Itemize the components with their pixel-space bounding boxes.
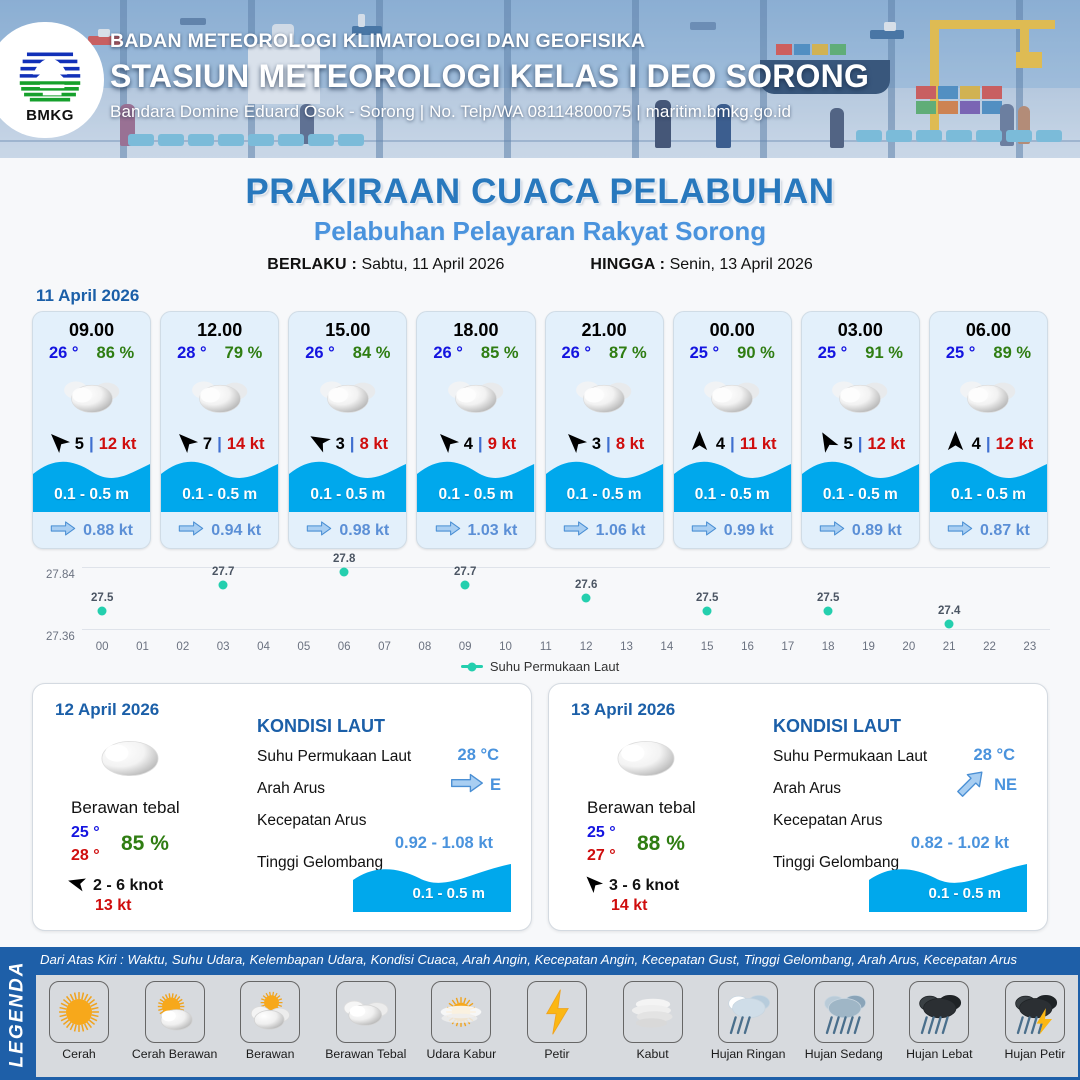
sst-label: Suhu Permukaan Laut — [257, 748, 411, 766]
validity-row: BERLAKU : Sabtu, 11 April 2026 HINGGA : … — [0, 256, 1080, 274]
lightning-icon — [527, 981, 587, 1043]
card-humidity: 91 % — [865, 344, 903, 363]
panel-wave-height: 0.1 - 0.5 m — [412, 885, 485, 902]
current-direction-arrow-icon — [819, 520, 845, 542]
legend-side-text: LEGENDA — [6, 960, 28, 1067]
separator: | — [478, 434, 483, 454]
card-wave-height: 0.1 - 0.5 m — [546, 486, 663, 504]
separator: | — [858, 434, 863, 454]
chart-x-tick: 18 — [822, 641, 835, 653]
chart-x-tick: 23 — [1023, 641, 1036, 653]
separator: | — [350, 434, 355, 454]
card-time: 09.00 — [33, 312, 150, 341]
panel-temp-min: 25 ° — [71, 824, 100, 842]
separator: | — [606, 434, 611, 454]
card-time: 03.00 — [802, 312, 919, 341]
chart-gridline — [82, 629, 1050, 630]
cloud-icon — [336, 981, 396, 1043]
chart-x-tick: 17 — [781, 641, 794, 653]
cloud-icon — [33, 365, 150, 427]
chart-x-tick: 08 — [418, 641, 431, 653]
panel-date: 12 April 2026 — [55, 700, 159, 720]
card-gust: 12 kt — [99, 435, 137, 454]
hingga-value: Senin, 13 April 2026 — [670, 256, 813, 273]
legend-item-label: Berawan Tebal — [325, 1047, 406, 1061]
current-direction-label: Arah Arus — [257, 780, 325, 798]
legend-item-label: Cerah Berawan — [132, 1047, 217, 1061]
berlaku-group: BERLAKU : Sabtu, 11 April 2026 — [267, 256, 504, 274]
card-wind-speed: 4 — [972, 435, 981, 454]
current-speed-value: 0.92 - 1.08 kt — [395, 834, 493, 853]
hourly-card: 15.00 26 ° 84 % 3 | 8 kt 0.1 - 0.5 m — [288, 311, 407, 549]
cloud-icon — [546, 365, 663, 427]
legend-side-title: LEGENDA — [0, 947, 34, 1080]
panel-temp-min: 25 ° — [587, 824, 616, 842]
card-gust: 8 kt — [360, 435, 388, 454]
sun-icon — [49, 981, 109, 1043]
chart-x-tick: 19 — [862, 641, 875, 653]
panel-temp-max: 27 ° — [587, 847, 616, 865]
wind-direction-arrow-icon — [583, 873, 603, 898]
chart-x-tick: 07 — [378, 641, 391, 653]
separator: | — [986, 434, 991, 454]
cloud-icon — [674, 365, 791, 427]
current-direction-value: NE — [994, 776, 1017, 795]
card-time: 06.00 — [930, 312, 1047, 341]
moderate-rain-icon — [814, 981, 874, 1043]
panel-humidity: 85 % — [121, 832, 169, 856]
legend-item: Kabut — [614, 981, 692, 1061]
hourly-card: 21.00 26 ° 87 % 3 | 8 kt 0.1 - 0.5 m — [545, 311, 664, 549]
wind-direction-arrow-icon — [944, 430, 967, 458]
berlaku-value: Sabtu, 11 April 2026 — [361, 256, 504, 273]
legend-item: Petir — [518, 981, 596, 1061]
legend-item-label: Hujan Petir — [1005, 1047, 1066, 1061]
card-wave-height: 0.1 - 0.5 m — [802, 486, 919, 504]
daily-panel: 12 April 2026 Berawan tebal 25 ° 28 ° 85… — [32, 683, 532, 931]
legend-items: Cerah Cerah Berawan Berawan Berawan Teba… — [36, 975, 1078, 1077]
chart-x-tick: 12 — [580, 641, 593, 653]
legend-item: Cerah — [40, 981, 118, 1061]
chart-point-label: 27.5 — [817, 592, 839, 604]
card-wind-speed: 5 — [844, 435, 853, 454]
chart-x-tick: 13 — [620, 641, 633, 653]
hourly-card: 03.00 25 ° 91 % 5 | 12 kt 0.1 - 0.5 m — [801, 311, 920, 549]
wind-direction-arrow-icon — [436, 430, 459, 458]
hourly-card: 06.00 25 ° 89 % 4 | 12 kt 0.1 - 0.5 m — [929, 311, 1048, 549]
current-direction-arrow-icon — [435, 520, 461, 542]
card-temperature: 26 ° — [305, 344, 335, 363]
card-current-speed: 0.99 kt — [724, 522, 774, 540]
card-wind-speed: 5 — [75, 435, 84, 454]
chart-data-point — [703, 606, 712, 615]
hourly-card: 09.00 26 ° 86 % 5 | 12 kt 0.1 - 0.5 m — [32, 311, 151, 549]
current-direction-arrow-icon — [306, 520, 332, 542]
chart-x-tick: 10 — [499, 641, 512, 653]
card-current-speed: 0.89 kt — [852, 522, 902, 540]
chart-x-tick: 20 — [902, 641, 915, 653]
separator: | — [730, 434, 735, 454]
current-direction-arrow-icon — [947, 520, 973, 542]
panel-humidity: 88 % — [637, 832, 685, 856]
legend-item-label: Udara Kabur — [427, 1047, 497, 1061]
card-temperature: 25 ° — [690, 344, 720, 363]
current-direction-arrow-icon — [50, 520, 76, 542]
sst-value: 28 °C — [974, 746, 1015, 765]
chart-legend-marker — [461, 665, 483, 668]
card-current-speed: 1.03 kt — [468, 522, 518, 540]
chart-point-label: 27.5 — [696, 592, 718, 604]
card-temperature: 25 ° — [946, 344, 976, 363]
agency-name: BADAN METEOROLOGI KLIMATOLOGI DAN GEOFIS… — [110, 30, 869, 53]
legend-item: Hujan Ringan — [709, 981, 787, 1061]
card-current-speed: 0.98 kt — [339, 522, 389, 540]
heavy-rain-icon — [909, 981, 969, 1043]
panel-condition: Berawan tebal — [587, 798, 696, 818]
chart-y-tick: 27.36 — [46, 631, 75, 643]
current-direction-arrow-icon — [954, 772, 988, 799]
legend-item: Cerah Berawan — [136, 981, 214, 1061]
chart-legend-label: Suhu Permukaan Laut — [490, 659, 619, 674]
chart-data-point — [582, 594, 591, 603]
current-direction-group: E — [450, 772, 501, 799]
chart-x-tick: 15 — [701, 641, 714, 653]
chart-x-tick: 02 — [176, 641, 189, 653]
sea-condition-title: KONDISI LAUT — [773, 716, 901, 737]
station-contact: Bandara Domine Eduard Osok - Sorong | No… — [110, 102, 869, 122]
wind-direction-arrow-icon — [816, 430, 839, 458]
cloud-icon — [607, 732, 685, 787]
card-time: 12.00 — [161, 312, 278, 341]
cloud-icon — [161, 365, 278, 427]
card-wave-height: 0.1 - 0.5 m — [930, 486, 1047, 504]
chart-data-point — [945, 619, 954, 628]
chart-y-tick: 27.84 — [46, 569, 75, 581]
card-time: 15.00 — [289, 312, 406, 341]
daily-panels: 12 April 2026 Berawan tebal 25 ° 28 ° 85… — [0, 683, 1080, 931]
chart-x-tick: 03 — [217, 641, 230, 653]
card-temperature: 28 ° — [177, 344, 207, 363]
panel-wind-range: 2 - 6 knot — [93, 877, 163, 895]
hourly-cards: 09.00 26 ° 86 % 5 | 12 kt 0.1 - 0.5 m — [0, 311, 1080, 549]
legend-item-label: Hujan Sedang — [805, 1047, 883, 1061]
chart-data-point — [340, 568, 349, 577]
chart-x-tick: 09 — [459, 641, 472, 653]
card-wind-speed: 7 — [203, 435, 212, 454]
thunderstorm-icon — [1005, 981, 1065, 1043]
chart-x-tick: 06 — [338, 641, 351, 653]
card-humidity: 90 % — [737, 344, 775, 363]
panel-gust: 13 kt — [95, 897, 131, 915]
chart-x-tick: 22 — [983, 641, 996, 653]
chart-point-label: 27.4 — [938, 605, 960, 617]
chart-data-point — [824, 606, 833, 615]
card-humidity: 86 % — [97, 344, 135, 363]
page-subtitle: Pelabuhan Pelayaran Rakyat Sorong — [0, 216, 1080, 247]
panel-date: 13 April 2026 — [571, 700, 675, 720]
legend-item-label: Petir — [544, 1047, 569, 1061]
hourly-card: 00.00 25 ° 90 % 4 | 11 kt 0.1 - 0.5 m — [673, 311, 792, 549]
chart-x-tick: 04 — [257, 641, 270, 653]
panel-wind-range: 3 - 6 knot — [609, 877, 679, 895]
card-humidity: 85 % — [481, 344, 519, 363]
sun-cloud-icon — [145, 981, 205, 1043]
cloud-icon — [802, 365, 919, 427]
current-direction-group: NE — [954, 772, 1017, 799]
bmkg-logo-text: BMKG — [26, 107, 74, 124]
card-wave-height: 0.1 - 0.5 m — [417, 486, 534, 504]
chart-x-tick: 14 — [660, 641, 673, 653]
current-direction-arrow-icon — [450, 772, 484, 799]
current-direction-arrow-icon — [563, 520, 589, 542]
chart-data-point — [461, 581, 470, 590]
card-time: 21.00 — [546, 312, 663, 341]
current-speed-value: 0.82 - 1.02 kt — [911, 834, 1009, 853]
wind-direction-arrow-icon — [47, 430, 70, 458]
legend-item: Berawan Tebal — [327, 981, 405, 1061]
legend-bar: LEGENDA Dari Atas Kiri : Waktu, Suhu Uda… — [0, 947, 1080, 1080]
sst-value: 28 °C — [458, 746, 499, 765]
chart-point-label: 27.7 — [212, 566, 234, 578]
card-humidity: 84 % — [353, 344, 391, 363]
hourly-card: 12.00 28 ° 79 % 7 | 14 kt 0.1 - 0.5 m — [160, 311, 279, 549]
wind-direction-arrow-icon — [67, 873, 87, 898]
card-gust: 8 kt — [616, 435, 644, 454]
card-temperature: 26 ° — [49, 344, 79, 363]
wind-direction-arrow-icon — [564, 430, 587, 458]
card-gust: 14 kt — [227, 435, 265, 454]
chart-x-tick: 05 — [297, 641, 310, 653]
chart-point-label: 27.7 — [454, 566, 476, 578]
chart-x-tick: 11 — [540, 641, 552, 653]
legend-item: Udara Kabur — [422, 981, 500, 1061]
card-humidity: 87 % — [609, 344, 647, 363]
chart-data-point — [98, 606, 107, 615]
card-current-speed: 0.94 kt — [211, 522, 261, 540]
card-wave-height: 0.1 - 0.5 m — [33, 486, 150, 504]
panel-temp-max: 28 ° — [71, 847, 100, 865]
haze-icon — [431, 981, 491, 1043]
card-gust: 12 kt — [867, 435, 905, 454]
legend-item: Hujan Lebat — [900, 981, 978, 1061]
card-humidity: 79 % — [225, 344, 263, 363]
hingga-label: HINGGA : — [590, 256, 665, 273]
current-direction-arrow-icon — [691, 520, 717, 542]
card-wind-speed: 3 — [336, 435, 345, 454]
legend-note: Dari Atas Kiri : Waktu, Suhu Udara, Kele… — [40, 952, 1076, 967]
fog-icon — [623, 981, 683, 1043]
card-wave-height: 0.1 - 0.5 m — [289, 486, 406, 504]
card-wind-speed: 3 — [592, 435, 601, 454]
cloud-icon — [91, 732, 169, 787]
panel-wave-height: 0.1 - 0.5 m — [928, 885, 1001, 902]
current-speed-label: Kecepatan Arus — [773, 812, 882, 830]
card-wind-speed: 4 — [716, 435, 725, 454]
chart-x-tick: 00 — [96, 641, 109, 653]
legend-item-label: Cerah — [62, 1047, 96, 1061]
current-direction-value: E — [490, 776, 501, 795]
hingga-group: HINGGA : Senin, 13 April 2026 — [590, 256, 812, 274]
card-current-speed: 0.87 kt — [980, 522, 1030, 540]
card-current-speed: 1.06 kt — [596, 522, 646, 540]
card-temperature: 25 ° — [818, 344, 848, 363]
legend-item-label: Hujan Lebat — [906, 1047, 972, 1061]
chart-point-label: 27.8 — [333, 553, 355, 565]
panel-gust: 14 kt — [611, 897, 647, 915]
page-title: PRAKIRAAN CUACA PELABUHAN — [0, 172, 1080, 212]
title-block: PRAKIRAAN CUACA PELABUHAN Pelabuhan Pela… — [0, 172, 1080, 274]
separator: | — [217, 434, 222, 454]
wind-direction-arrow-icon — [688, 430, 711, 458]
cloud-icon — [289, 365, 406, 427]
legend-item-label: Berawan — [246, 1047, 295, 1061]
chart-point-label: 27.6 — [575, 579, 597, 591]
wind-direction-arrow-icon — [175, 430, 198, 458]
chart-data-point — [219, 581, 228, 590]
card-humidity: 89 % — [993, 344, 1031, 363]
separator: | — [89, 434, 94, 454]
station-name: STASIUN METEOROLOGI KELAS I DEO SORONG — [110, 58, 869, 95]
legend-item: Hujan Petir — [996, 981, 1074, 1061]
legend-item: Hujan Sedang — [805, 981, 883, 1061]
card-gust: 11 kt — [740, 435, 777, 454]
card-wave-height: 0.1 - 0.5 m — [674, 486, 791, 504]
hourly-card: 18.00 26 ° 85 % 4 | 9 kt 0.1 - 0.5 m — [416, 311, 535, 549]
card-wind-speed: 4 — [464, 435, 473, 454]
cloud-sun-icon — [240, 981, 300, 1043]
chart-x-tick: 01 — [136, 641, 149, 653]
chart-x-tick: 21 — [943, 641, 956, 653]
hourly-date-label: 11 April 2026 — [36, 286, 1080, 306]
page-header: BMKG BADAN METEOROLOGI KLIMATOLOGI DAN G… — [0, 0, 1080, 158]
card-temperature: 26 ° — [561, 344, 591, 363]
light-rain-icon — [718, 981, 778, 1043]
cloud-icon — [417, 365, 534, 427]
card-temperature: 26 ° — [433, 344, 463, 363]
chart-legend: Suhu Permukaan Laut — [20, 659, 1060, 674]
cloud-icon — [930, 365, 1047, 427]
card-time: 00.00 — [674, 312, 791, 341]
chart-x-tick: 16 — [741, 641, 754, 653]
daily-panel: 13 April 2026 Berawan tebal 25 ° 27 ° 88… — [548, 683, 1048, 931]
card-wave-height: 0.1 - 0.5 m — [161, 486, 278, 504]
chart-plot: 27.8427.36000102030405060708091011121314… — [82, 567, 1050, 629]
legend-item-label: Kabut — [636, 1047, 668, 1061]
bmkg-emblem-icon — [14, 37, 86, 109]
card-gust: 9 kt — [488, 435, 516, 454]
panel-condition: Berawan tebal — [71, 798, 180, 818]
card-time: 18.00 — [417, 312, 534, 341]
legend-item: Berawan — [231, 981, 309, 1061]
current-speed-label: Kecepatan Arus — [257, 812, 366, 830]
berlaku-label: BERLAKU : — [267, 256, 357, 273]
current-direction-arrow-icon — [178, 520, 204, 542]
wind-direction-arrow-icon — [308, 430, 331, 458]
card-current-speed: 0.88 kt — [83, 522, 133, 540]
chart-point-label: 27.5 — [91, 592, 113, 604]
sea-condition-title: KONDISI LAUT — [257, 716, 385, 737]
sst-label: Suhu Permukaan Laut — [773, 748, 927, 766]
current-direction-label: Arah Arus — [773, 780, 841, 798]
card-gust: 12 kt — [996, 435, 1034, 454]
sst-chart: 27.8427.36000102030405060708091011121314… — [20, 559, 1060, 679]
legend-item-label: Hujan Ringan — [711, 1047, 786, 1061]
